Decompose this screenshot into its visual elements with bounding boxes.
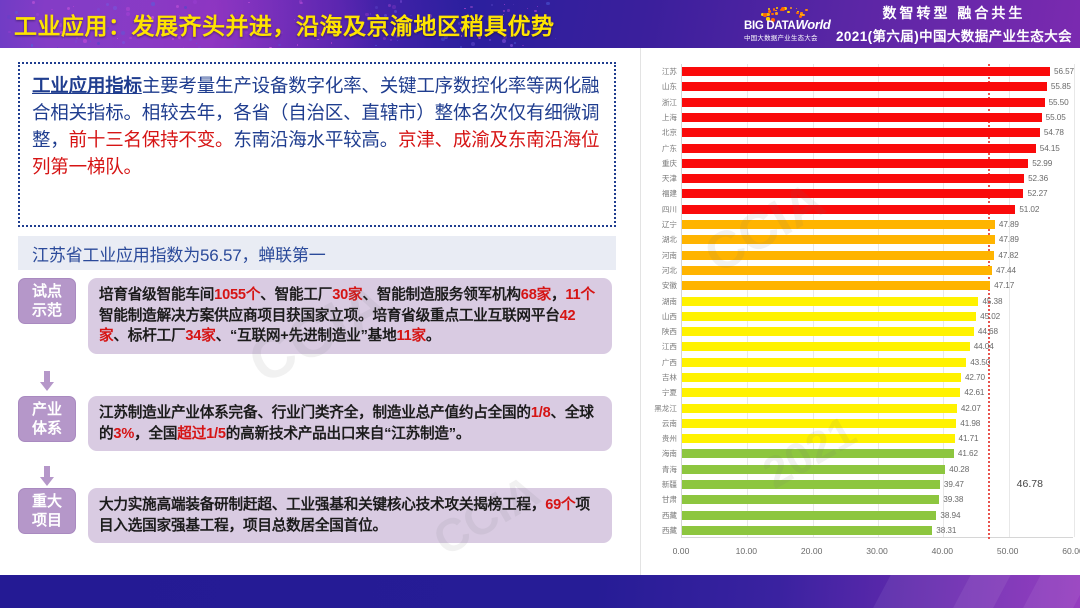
chart-bar-value: 41.62 — [958, 449, 978, 458]
intro-callout-box: 工业应用指标主要考量生产设备数字化率、关键工序数控化率等两化融合相关指标。相较去… — [18, 62, 616, 227]
body-text: 、智能制造服务领军机构 — [362, 287, 520, 303]
body-text: 的高新技术产品出口来自“江苏制造”。 — [226, 426, 471, 442]
info-block-tag: 产业体系 — [18, 396, 76, 442]
chart-bar-value: 47.89 — [999, 235, 1019, 244]
chart-category-label: 湖北 — [662, 233, 677, 246]
chart-category-label: 江西 — [662, 340, 677, 353]
chart-bar-row: 山东55.85 — [682, 80, 1074, 93]
chart-bar-value: 55.50 — [1049, 98, 1069, 107]
body-text: 、智能工厂 — [260, 287, 332, 303]
info-block-text: 培育省级智能车间1055个、智能工厂30家、智能制造服务领军机构68家，11个智… — [88, 278, 612, 354]
chart-bar — [682, 82, 1047, 91]
body-text: 江苏制造业产业体系完备、行业门类齐全，制造业总产值约占全国的 — [99, 405, 531, 421]
tag-line-2: 体系 — [32, 419, 62, 438]
chart-bar-row: 新疆39.47 — [682, 478, 1074, 491]
chart-category-label: 湖南 — [662, 295, 677, 308]
chart-bar — [682, 495, 939, 504]
chart-bar — [682, 98, 1045, 107]
chart-category-label: 贵州 — [662, 432, 677, 445]
chart-bar-row: 甘肃39.38 — [682, 493, 1074, 506]
chart-bar — [682, 404, 957, 413]
chart-bar-row: 河北47.44 — [682, 264, 1074, 277]
info-block-tag: 试点示范 — [18, 278, 76, 324]
chart-category-label: 四川 — [662, 203, 677, 216]
chart-bar-value: 42.70 — [965, 373, 985, 382]
chart-bar-value: 52.99 — [1032, 159, 1052, 168]
chart-category-label: 河南 — [662, 249, 677, 262]
chart-bar-value: 44.04 — [974, 342, 994, 351]
chart-bar-row: 北京54.78 — [682, 126, 1074, 139]
highlight-text: 超过1/5 — [177, 426, 225, 442]
chart-bar-row: 海南41.62 — [682, 447, 1074, 460]
chart-bar — [682, 312, 976, 321]
chart-bar — [682, 266, 992, 275]
chart-category-label: 重庆 — [662, 157, 677, 170]
body-text: 、标杆工厂 — [113, 328, 185, 344]
chart-bar-row: 安徽47.17 — [682, 279, 1074, 292]
chart-bar-value: 47.17 — [994, 281, 1014, 290]
chart-bar-row: 吉林42.70 — [682, 371, 1074, 384]
chart-bar-row: 上海55.05 — [682, 111, 1074, 124]
chart-category-label: 江苏 — [662, 65, 677, 78]
tag-line-1: 产业 — [32, 400, 62, 419]
chart-bar-value: 47.82 — [998, 251, 1018, 260]
chart-bar-value: 52.36 — [1028, 174, 1048, 183]
chart-bar-row: 浙江55.50 — [682, 96, 1074, 109]
page-title: 工业应用：发展齐头并进，沿海及京渝地区稍具优势 — [14, 7, 555, 41]
slogan-line-1: 数智转型 融合共生 — [883, 3, 1026, 23]
chart-bar-row: 江苏56.57 — [682, 65, 1074, 78]
chart-bar-value: 47.89 — [999, 220, 1019, 229]
chart-x-tick-label: 50.00 — [997, 546, 1019, 556]
intro-part-2: 东南沿海水平较高。 — [233, 129, 398, 150]
chart-bar — [682, 511, 936, 520]
chart-category-label: 海南 — [662, 447, 677, 460]
chart-bar — [682, 67, 1050, 76]
chart-bar-row: 天津52.36 — [682, 172, 1074, 185]
chart-x-tick-label: 0.00 — [673, 546, 690, 556]
chart-x-tick-label: 30.00 — [866, 546, 888, 556]
chart-bar — [682, 128, 1040, 137]
chart-category-label: 广东 — [662, 142, 677, 155]
chart-category-label: 西藏 — [662, 524, 677, 537]
chart-bar — [682, 189, 1023, 198]
chart-bar-row: 青海40.28 — [682, 463, 1074, 476]
chart-bar — [682, 220, 995, 229]
chart-bar — [682, 235, 995, 244]
chart-bar-value: 44.68 — [978, 327, 998, 336]
chart-category-label: 浙江 — [662, 96, 677, 109]
tag-line-2: 示范 — [32, 301, 62, 320]
logo-main-text: BIG DATAWorld — [744, 19, 826, 32]
chart-category-label: 辽宁 — [662, 218, 677, 231]
highlight-text: 30家 — [332, 287, 362, 303]
chart-bar-value: 52.27 — [1027, 189, 1047, 198]
body-text: ， — [551, 287, 565, 303]
body-text: 、“互联网+先进制造业”基地 — [216, 328, 397, 344]
chart-category-label: 山东 — [662, 80, 677, 93]
chart-bar-value: 38.94 — [940, 511, 960, 520]
body-text: 培育省级智能车间 — [99, 287, 214, 303]
chart-bar — [682, 342, 970, 351]
chart-bar-value: 42.61 — [964, 388, 984, 397]
chart-bar-value: 54.78 — [1044, 128, 1064, 137]
chart-bar-value: 38.31 — [936, 526, 956, 535]
highlight-text: 1/8 — [531, 405, 551, 421]
chart-bar — [682, 449, 954, 458]
chart-bar-row: 西藏38.94 — [682, 509, 1074, 522]
chart-x-tick-label: 40.00 — [932, 546, 954, 556]
chart-category-label: 吉林 — [662, 371, 677, 384]
chart-bar-value: 41.98 — [960, 419, 980, 428]
chart-category-label: 安徽 — [662, 279, 677, 292]
slide-root: 工业应用：发展齐头并进，沿海及京渝地区稍具优势 BIG DATAWorld 中国… — [0, 0, 1080, 608]
chart-bar-row: 黑龙江42.07 — [682, 402, 1074, 415]
chart-category-label: 上海 — [662, 111, 677, 124]
flow-arrow-down-icon — [40, 466, 54, 486]
chart-bar-value: 45.38 — [982, 297, 1002, 306]
chart-bar — [682, 465, 945, 474]
chart-bar-row: 西藏38.31 — [682, 524, 1074, 537]
chart-bar-row: 贵州41.71 — [682, 432, 1074, 445]
chart-bar-row: 辽宁47.89 — [682, 218, 1074, 231]
chart-bar — [682, 358, 966, 367]
province-index-chart: 46.78江苏56.57山东55.85浙江55.50上海55.05北京54.78… — [640, 48, 1080, 575]
conference-slogan: 数智转型 融合共生 2021(第六届)中国大数据产业生态大会 — [836, 3, 1072, 45]
chart-bar-row: 宁夏42.61 — [682, 386, 1074, 399]
chart-bar — [682, 388, 960, 397]
info-block-text: 江苏制造业产业体系完备、行业门类齐全，制造业总产值约占全国的1/8、全球的3%，… — [88, 396, 612, 451]
chart-inner: 46.78江苏56.57山东55.85浙江55.50上海55.05北京54.78… — [645, 58, 1077, 566]
slide-header: 工业应用：发展齐头并进，沿海及京渝地区稍具优势 BIG DATAWorld 中国… — [0, 0, 1080, 48]
highlight-text: 11家 — [396, 328, 425, 344]
slogan-line-2: 2021(第六届)中国大数据产业生态大会 — [836, 25, 1072, 45]
chart-bar-row: 江西44.04 — [682, 340, 1074, 353]
chart-bar — [682, 434, 955, 443]
chart-bar — [682, 526, 932, 535]
intro-text: 工业应用指标主要考量生产设备数字化率、关键工序数控化率等两化融合相关指标。相较去… — [32, 72, 602, 180]
chart-plot-area: 46.78江苏56.57山东55.85浙江55.50上海55.05北京54.78… — [681, 64, 1073, 538]
body-text: ，全国 — [134, 426, 177, 442]
chart-bar-value: 42.07 — [961, 404, 981, 413]
chart-bar-row: 云南41.98 — [682, 417, 1074, 430]
info-block-3: 重大项目大力实施高端装备研制赶超、工业强基和关键核心技术攻关揭榜工程，69个项目… — [18, 488, 612, 543]
chart-bar-value: 43.50 — [970, 358, 990, 367]
subheading-banner: 江苏省工业应用指数为56.57，蝉联第一 — [18, 236, 616, 270]
chart-category-label: 新疆 — [662, 478, 677, 491]
chart-bar-value: 51.02 — [1019, 205, 1039, 214]
chart-bar-row: 山西45.02 — [682, 310, 1074, 323]
chart-bar-row: 四川51.02 — [682, 203, 1074, 216]
tag-line-2: 项目 — [32, 511, 62, 530]
info-block-2: 产业体系江苏制造业产业体系完备、行业门类齐全，制造业总产值约占全国的1/8、全球… — [18, 396, 612, 451]
info-block-text: 大力实施高端装备研制赶超、工业强基和关键核心技术攻关揭榜工程，69个项目入选国家… — [88, 488, 612, 543]
chart-bar-row: 广东54.15 — [682, 142, 1074, 155]
chart-bar — [682, 205, 1015, 214]
chart-bar — [682, 281, 990, 290]
chart-category-label: 青海 — [662, 463, 677, 476]
chart-bar-row: 重庆52.99 — [682, 157, 1074, 170]
chart-category-label: 山西 — [662, 310, 677, 323]
chart-bar-value: 39.38 — [943, 495, 963, 504]
chart-bar-value: 41.71 — [959, 434, 979, 443]
chart-gridline — [1074, 64, 1075, 537]
body-text: 大力实施高端装备研制赶超、工业强基和关键核心技术攻关揭榜工程， — [99, 497, 545, 513]
info-block-tag: 重大项目 — [18, 488, 76, 534]
chart-x-tick-label: 20.00 — [801, 546, 823, 556]
chart-category-label: 河北 — [662, 264, 677, 277]
highlight-text: 1055个 — [214, 287, 260, 303]
tag-line-1: 试点 — [32, 282, 62, 301]
chart-category-label: 陕西 — [662, 325, 677, 338]
flow-arrow-down-icon — [40, 371, 54, 391]
chart-x-tick-label: 10.00 — [736, 546, 758, 556]
chart-bar — [682, 144, 1036, 153]
chart-bar — [682, 297, 978, 306]
chart-bar — [682, 159, 1028, 168]
logo-sub-text: 中国大数据产业生态大会 — [744, 32, 826, 42]
chart-bar-row: 广西43.50 — [682, 356, 1074, 369]
tag-line-1: 重大 — [32, 492, 62, 511]
highlight-text: 34家 — [185, 328, 215, 344]
chart-bar-row: 河南47.82 — [682, 249, 1074, 262]
chart-bar-value: 40.28 — [949, 465, 969, 474]
chart-category-label: 天津 — [662, 172, 677, 185]
chart-bar — [682, 113, 1042, 122]
chart-bar-value: 55.05 — [1046, 113, 1066, 122]
chart-bar — [682, 419, 956, 428]
chart-category-label: 宁夏 — [662, 386, 677, 399]
body-text: 。 — [426, 328, 440, 344]
intro-bold-lead: 工业应用指标 — [32, 75, 142, 96]
chart-bar-value: 39.47 — [944, 480, 964, 489]
chart-bar-value: 45.02 — [980, 312, 1000, 321]
chart-bar-value: 56.57 — [1054, 67, 1074, 76]
chart-category-label: 甘肃 — [662, 493, 677, 506]
chart-category-label: 黑龙江 — [654, 402, 677, 415]
chart-bar-value: 55.85 — [1051, 82, 1071, 91]
chart-bar-row: 湖北47.89 — [682, 233, 1074, 246]
chart-bar — [682, 480, 940, 489]
slide-footer — [0, 575, 1080, 608]
highlight-text: 69个 — [545, 497, 575, 513]
bigdata-world-logo: BIG DATAWorld 中国大数据产业生态大会 — [744, 4, 826, 44]
chart-category-label: 福建 — [662, 187, 677, 200]
chart-bar-row: 福建52.27 — [682, 187, 1074, 200]
intro-highlight-1: 前十三名保持不变。 — [69, 129, 234, 150]
chart-bar — [682, 251, 994, 260]
chart-category-label: 广西 — [662, 356, 677, 369]
info-block-1: 试点示范培育省级智能车间1055个、智能工厂30家、智能制造服务领军机构68家，… — [18, 278, 612, 354]
chart-category-label: 云南 — [662, 417, 677, 430]
chart-bar-value: 47.44 — [996, 266, 1016, 275]
chart-bar — [682, 174, 1024, 183]
chart-x-tick-label: 60.00 — [1062, 546, 1080, 556]
chart-bar-row: 湖南45.38 — [682, 295, 1074, 308]
chart-category-label: 西藏 — [662, 509, 677, 522]
chart-bar — [682, 327, 974, 336]
highlight-text: 11个 — [565, 287, 594, 303]
chart-bar — [682, 373, 961, 382]
header-branding: BIG DATAWorld 中国大数据产业生态大会 数智转型 融合共生 2021… — [744, 0, 1072, 48]
highlight-text: 68家 — [521, 287, 551, 303]
chart-bar-row: 陕西44.68 — [682, 325, 1074, 338]
chart-bar-value: 54.15 — [1040, 144, 1060, 153]
left-content-panel: 工业应用指标主要考量生产设备数字化率、关键工序数控化率等两化融合相关指标。相较去… — [0, 48, 640, 575]
chart-category-label: 北京 — [662, 126, 677, 139]
highlight-text: 3% — [113, 426, 134, 442]
body-text: 智能制造解决方案供应商项目获国家立项。培育省级重点工业互联网平台 — [99, 308, 560, 324]
